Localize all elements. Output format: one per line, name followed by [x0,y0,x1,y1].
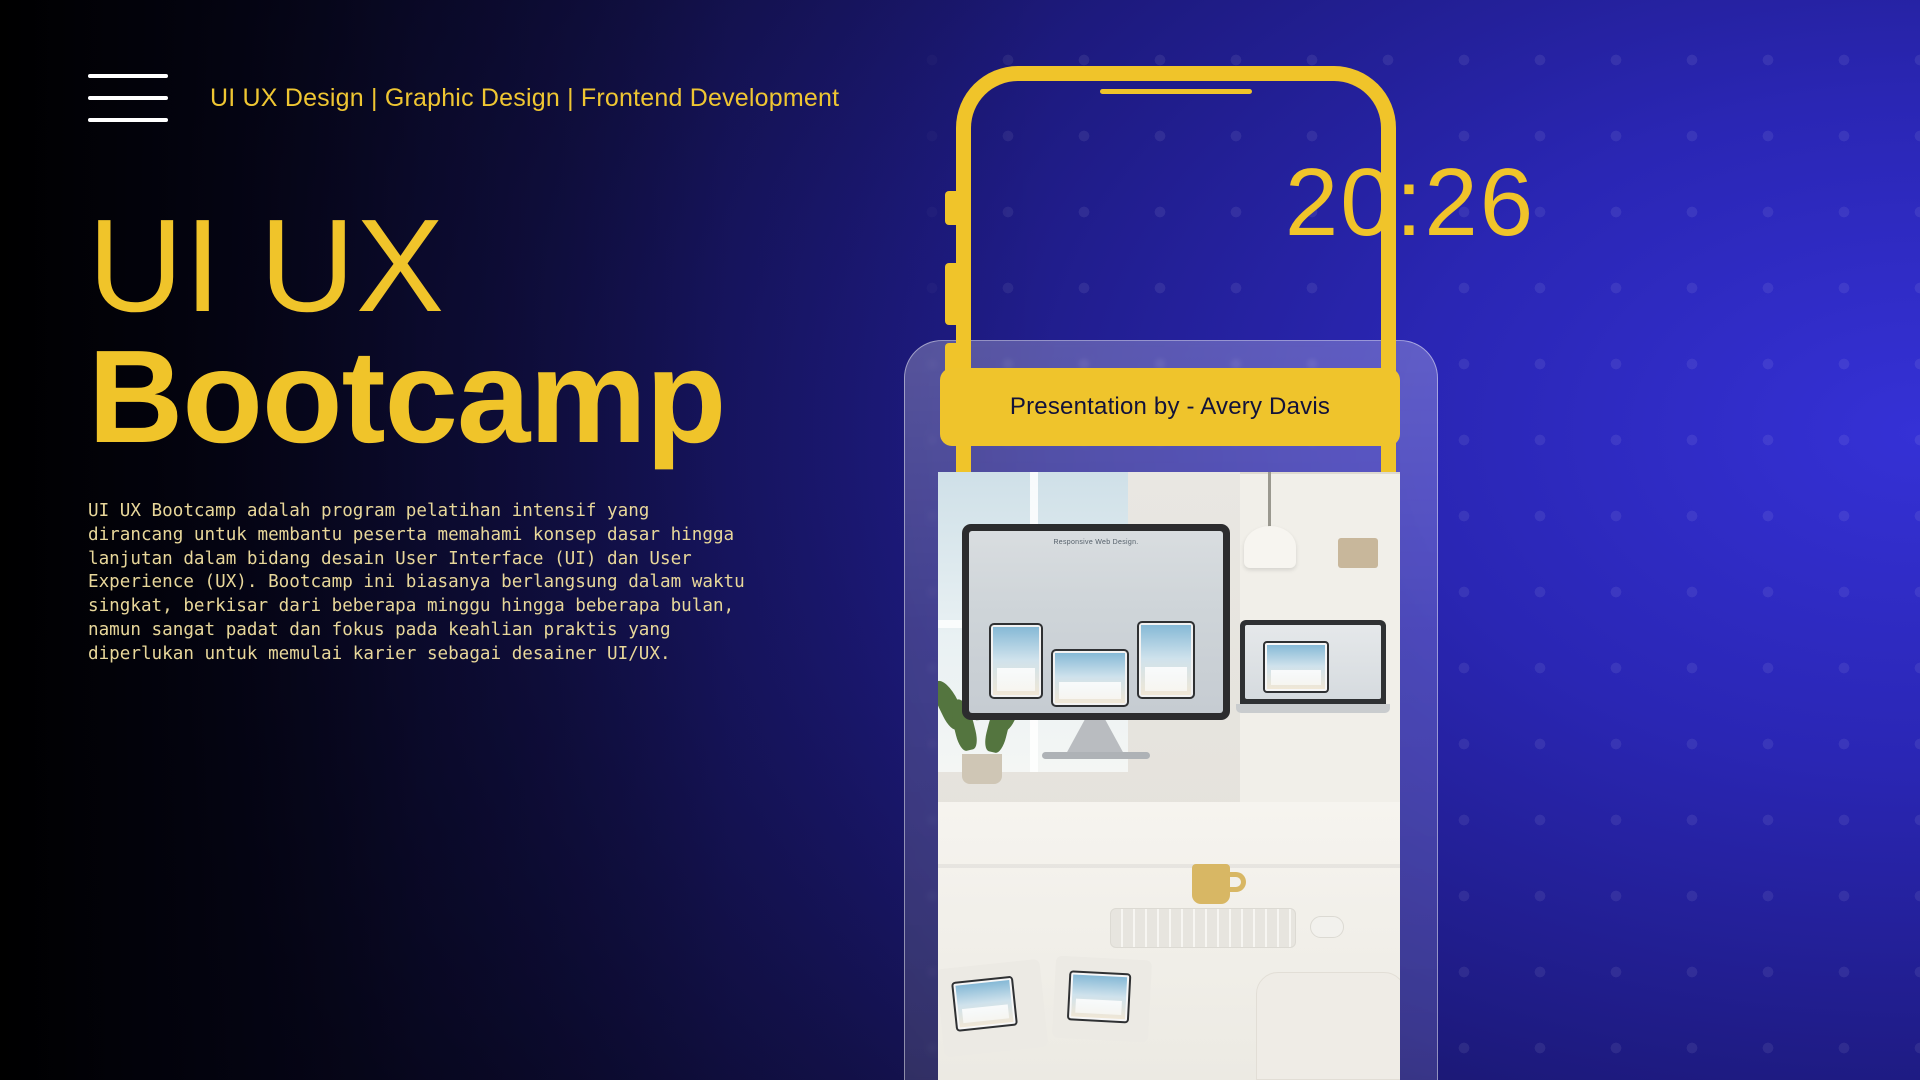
presenter-banner-label: Presentation by - Avery Davis [1010,393,1330,421]
volume-up-button[interactable] [945,263,957,325]
photo-device-tablet-center [1051,649,1129,707]
hamburger-menu-icon[interactable] [88,74,168,122]
photo-laptop-screen [1245,625,1381,699]
photo-pad-device-left [951,976,1018,1032]
photo-pad-device-right [1067,970,1132,1023]
presentation-slide: UI UX Design | Graphic Design | Frontend… [0,0,1920,1080]
photo-mouse [1310,916,1344,938]
hamburger-line-1 [88,74,168,78]
photo-imac-monitor: Responsive Web Design. [962,524,1230,720]
photo-device-tablet-right [1137,621,1195,699]
photo-keyboard [1110,908,1296,948]
header-tagline: UI UX Design | Graphic Design | Frontend… [210,84,839,113]
photo-chair [1256,972,1400,1080]
phone-mockup-composition: 20:26 Presentation by - Avery Davis [900,0,1920,1080]
photo-coffee-mug [1192,864,1230,904]
headline-group: UI UX Bootcamp [88,200,725,469]
photo-monitor-caption: Responsive Web Design. [969,539,1223,546]
headline-line-2: Bootcamp [88,326,725,469]
photo-shelf-box-1 [1338,538,1378,568]
photo-laptop-base [1236,704,1390,713]
photo-desk-pad-left [938,959,1048,1057]
photo-lamp-cord [1268,472,1271,530]
photo-device-tablet-left [989,623,1043,699]
phone-speaker-grille-icon [1100,89,1252,94]
photo-imac-base [1042,752,1150,759]
photo-plant-pot [962,754,1002,784]
workspace-photo: Responsive Web Design. [938,472,1400,1080]
slide-header: UI UX Design | Graphic Design | Frontend… [88,74,839,122]
body-paragraph: UI UX Bootcamp adalah program pelatihan … [88,500,788,667]
photo-desk-edge [938,864,1400,868]
photo-imac-screen: Responsive Web Design. [969,531,1223,713]
photo-pendant-lamp [1244,526,1296,568]
photo-laptop [1236,620,1390,724]
photo-laptop-preview [1263,641,1329,693]
presenter-banner: Presentation by - Avery Davis [940,368,1400,446]
hamburger-line-2 [88,96,168,100]
headline-line-1: UI UX [88,200,725,332]
photo-laptop-lid [1240,620,1386,704]
hamburger-line-3 [88,118,168,122]
photo-desk-pad-right [1052,956,1152,1043]
phone-clock: 20:26 [900,148,1920,258]
